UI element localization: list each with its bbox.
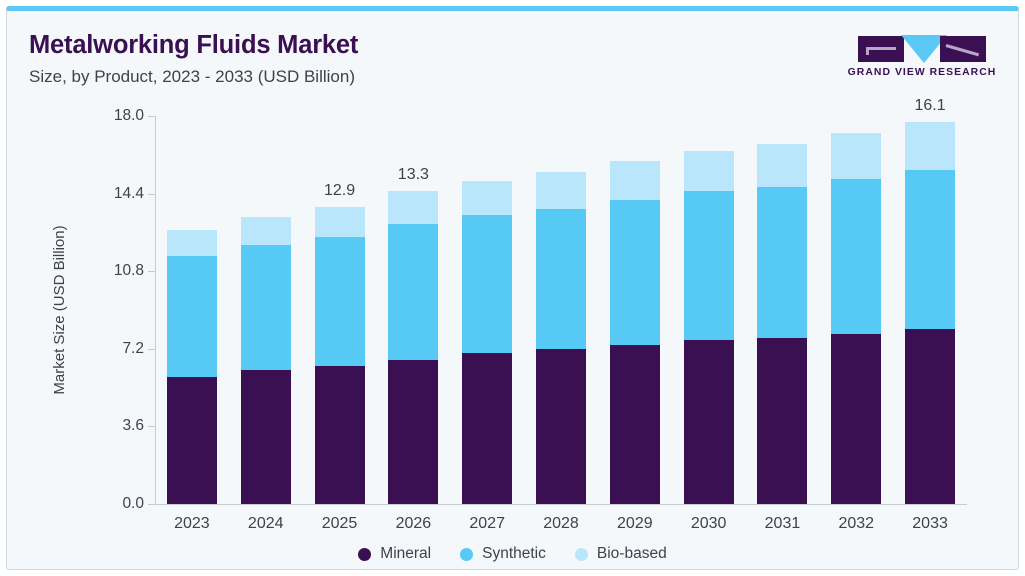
chart-frame: Metalworking Fluids Market Size, by Prod… xyxy=(6,6,1019,570)
bar-segment-mineral[interactable] xyxy=(684,340,734,504)
legend-swatch-icon xyxy=(460,548,473,561)
bar-value-label: 13.3 xyxy=(398,166,429,184)
page-title: Metalworking Fluids Market xyxy=(29,31,358,60)
bar-segment-bio-based[interactable] xyxy=(462,181,512,215)
x-tick-label: 2030 xyxy=(691,515,727,533)
bar-group[interactable]: 2024 xyxy=(241,217,291,504)
x-tick-label: 2027 xyxy=(469,515,505,533)
bar-segment-mineral[interactable] xyxy=(610,345,660,505)
bar-segment-synthetic[interactable] xyxy=(684,191,734,340)
chart-header: Metalworking Fluids Market Size, by Prod… xyxy=(7,11,1018,103)
legend-item[interactable]: Mineral xyxy=(358,545,431,563)
bar-segment-synthetic[interactable] xyxy=(462,215,512,353)
x-tick-label: 2031 xyxy=(765,515,801,533)
y-tick-mark xyxy=(148,426,155,427)
bar-segment-bio-based[interactable] xyxy=(241,217,291,245)
bar-segment-synthetic[interactable] xyxy=(757,187,807,338)
bar-segment-bio-based[interactable] xyxy=(610,161,660,200)
y-tick-mark xyxy=(148,116,155,117)
y-tick-label: 3.6 xyxy=(122,417,144,435)
x-tick-label: 2023 xyxy=(174,515,210,533)
bar-segment-synthetic[interactable] xyxy=(388,224,438,360)
bar-segment-synthetic[interactable] xyxy=(610,200,660,344)
bar-segment-mineral[interactable] xyxy=(315,366,365,504)
legend-item[interactable]: Bio-based xyxy=(575,545,667,563)
x-tick-label: 2029 xyxy=(617,515,653,533)
x-tick-label: 2025 xyxy=(322,515,358,533)
bar-segment-bio-based[interactable] xyxy=(167,230,217,256)
legend-label: Mineral xyxy=(380,545,431,563)
bar-group[interactable]: 2028 xyxy=(536,172,586,504)
logo-r-icon xyxy=(940,36,986,62)
bar-segment-synthetic[interactable] xyxy=(536,209,586,349)
y-tick-label: 18.0 xyxy=(114,107,144,125)
legend-label: Bio-based xyxy=(597,545,667,563)
bar-segment-mineral[interactable] xyxy=(831,334,881,504)
bar-value-label: 12.9 xyxy=(324,182,355,200)
y-axis-title: Market Size (USD Billion) xyxy=(51,116,71,504)
bar-group[interactable]: 2030 xyxy=(684,151,734,505)
bar-segment-mineral[interactable] xyxy=(241,370,291,504)
bar-segment-mineral[interactable] xyxy=(905,329,955,504)
chart-legend: MineralSyntheticBio-based xyxy=(7,545,1018,563)
legend-item[interactable]: Synthetic xyxy=(460,545,546,563)
bar-segment-mineral[interactable] xyxy=(536,349,586,504)
x-tick-label: 2024 xyxy=(248,515,284,533)
grand-view-research-logo: GRAND VIEW RESEARCH xyxy=(844,33,1000,85)
y-tick-label: 14.4 xyxy=(114,185,144,203)
logo-wordmark: GRAND VIEW RESEARCH xyxy=(844,67,1000,78)
bar-segment-synthetic[interactable] xyxy=(905,170,955,330)
x-tick-label: 2032 xyxy=(838,515,874,533)
y-tick-label: 10.8 xyxy=(114,262,144,280)
x-tick-label: 2026 xyxy=(396,515,432,533)
bar-segment-bio-based[interactable] xyxy=(315,207,365,237)
bar-value-label: 16.1 xyxy=(915,97,946,115)
plot-area: 0.03.67.210.814.418.0 2023202412.9202513… xyxy=(155,116,967,504)
bar-segment-mineral[interactable] xyxy=(757,338,807,504)
bar-segment-bio-based[interactable] xyxy=(757,144,807,187)
bar-group[interactable]: 2032 xyxy=(831,133,881,504)
bar-group[interactable]: 13.32026 xyxy=(388,191,438,504)
bar-segment-synthetic[interactable] xyxy=(315,237,365,366)
bar-group[interactable]: 16.12033 xyxy=(905,122,955,504)
y-tick-label: 7.2 xyxy=(122,340,144,358)
logo-g-icon xyxy=(858,36,904,62)
chart-page: Metalworking Fluids Market Size, by Prod… xyxy=(0,0,1025,576)
y-tick-mark xyxy=(148,271,155,272)
bar-segment-synthetic[interactable] xyxy=(167,256,217,377)
y-tick-mark xyxy=(148,194,155,195)
bar-segment-bio-based[interactable] xyxy=(684,151,734,192)
bar-segment-bio-based[interactable] xyxy=(905,122,955,169)
bar-segment-mineral[interactable] xyxy=(167,377,217,504)
bar-segment-bio-based[interactable] xyxy=(388,191,438,223)
bar-segment-mineral[interactable] xyxy=(462,353,512,504)
y-tick-label: 0.0 xyxy=(122,495,144,513)
logo-mark xyxy=(844,33,1000,63)
bar-segment-synthetic[interactable] xyxy=(831,179,881,334)
x-tick-label: 2033 xyxy=(912,515,948,533)
page-subtitle: Size, by Product, 2023 - 2033 (USD Billi… xyxy=(29,67,355,87)
x-axis-line xyxy=(155,504,967,505)
bar-group[interactable]: 2023 xyxy=(167,230,217,504)
bar-group[interactable]: 2031 xyxy=(757,144,807,504)
y-tick-mark xyxy=(148,349,155,350)
bar-segment-bio-based[interactable] xyxy=(831,133,881,178)
x-tick-label: 2028 xyxy=(543,515,579,533)
legend-swatch-icon xyxy=(358,548,371,561)
bar-segment-mineral[interactable] xyxy=(388,360,438,504)
y-axis-line xyxy=(155,116,156,505)
y-tick-mark xyxy=(148,504,155,505)
bar-group[interactable]: 12.92025 xyxy=(315,207,365,504)
bar-segment-bio-based[interactable] xyxy=(536,172,586,209)
bar-segment-synthetic[interactable] xyxy=(241,245,291,370)
legend-swatch-icon xyxy=(575,548,588,561)
bar-group[interactable]: 2027 xyxy=(462,181,512,504)
bar-group[interactable]: 2029 xyxy=(610,161,660,504)
legend-label: Synthetic xyxy=(482,545,546,563)
